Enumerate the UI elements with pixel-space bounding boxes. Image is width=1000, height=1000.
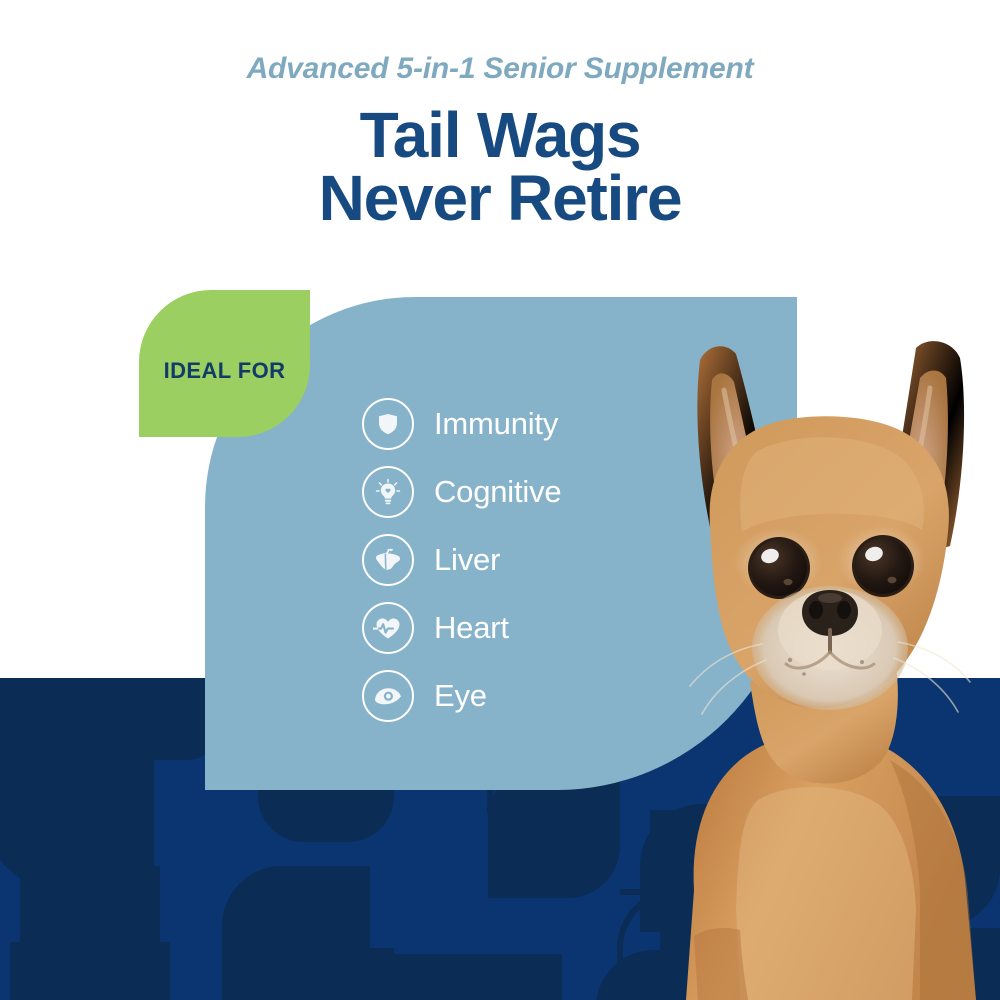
- page-title: Tail Wags Never Retire: [0, 104, 1000, 229]
- benefit-label: Heart: [434, 610, 509, 646]
- benefit-label: Eye: [434, 678, 487, 714]
- eyebrow-text: Advanced 5-in-1 Senior Supplement: [0, 52, 1000, 86]
- senior-chihuahua-photo: [590, 330, 1000, 1000]
- ideal-for-label: IDEAL FOR: [164, 344, 286, 384]
- benefit-item-liver: Liver: [362, 526, 561, 594]
- promo-banner: IDEAL FOR Immunity: [0, 0, 1000, 1000]
- heart-pulse-icon: [362, 602, 414, 654]
- headline-line-1: Tail Wags: [0, 104, 1000, 167]
- benefit-item-eye: Eye: [362, 662, 561, 730]
- eye-icon: [362, 670, 414, 722]
- liver-icon: [362, 534, 414, 586]
- ideal-for-badge: IDEAL FOR: [139, 290, 310, 437]
- benefit-label: Liver: [434, 542, 500, 578]
- shield-icon: [362, 398, 414, 450]
- benefit-label: Immunity: [434, 406, 558, 442]
- benefits-list: Immunity Cognitive: [362, 390, 561, 730]
- benefit-label: Cognitive: [434, 474, 561, 510]
- benefit-item-heart: Heart: [362, 594, 561, 662]
- lightbulb-icon: [362, 466, 414, 518]
- benefit-item-immunity: Immunity: [362, 390, 561, 458]
- benefit-item-cognitive: Cognitive: [362, 458, 561, 526]
- headline-line-2: Never Retire: [0, 167, 1000, 230]
